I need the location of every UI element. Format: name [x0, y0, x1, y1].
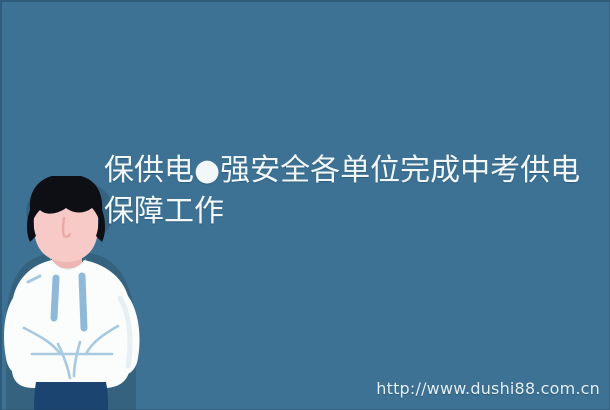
page-title: 保供电●强安全各单位完成中考供电保障工作: [104, 150, 582, 232]
left-sleeve: [4, 298, 30, 376]
pants: [34, 382, 108, 410]
source-url-watermark: http://www.dushi88.com.cn: [376, 380, 600, 398]
article-cover-card: 保供电●强安全各单位完成中考供电保障工作 http://www.dushi88.…: [0, 0, 610, 410]
drawstring-left: [54, 278, 56, 318]
drawstring-right: [82, 276, 84, 328]
